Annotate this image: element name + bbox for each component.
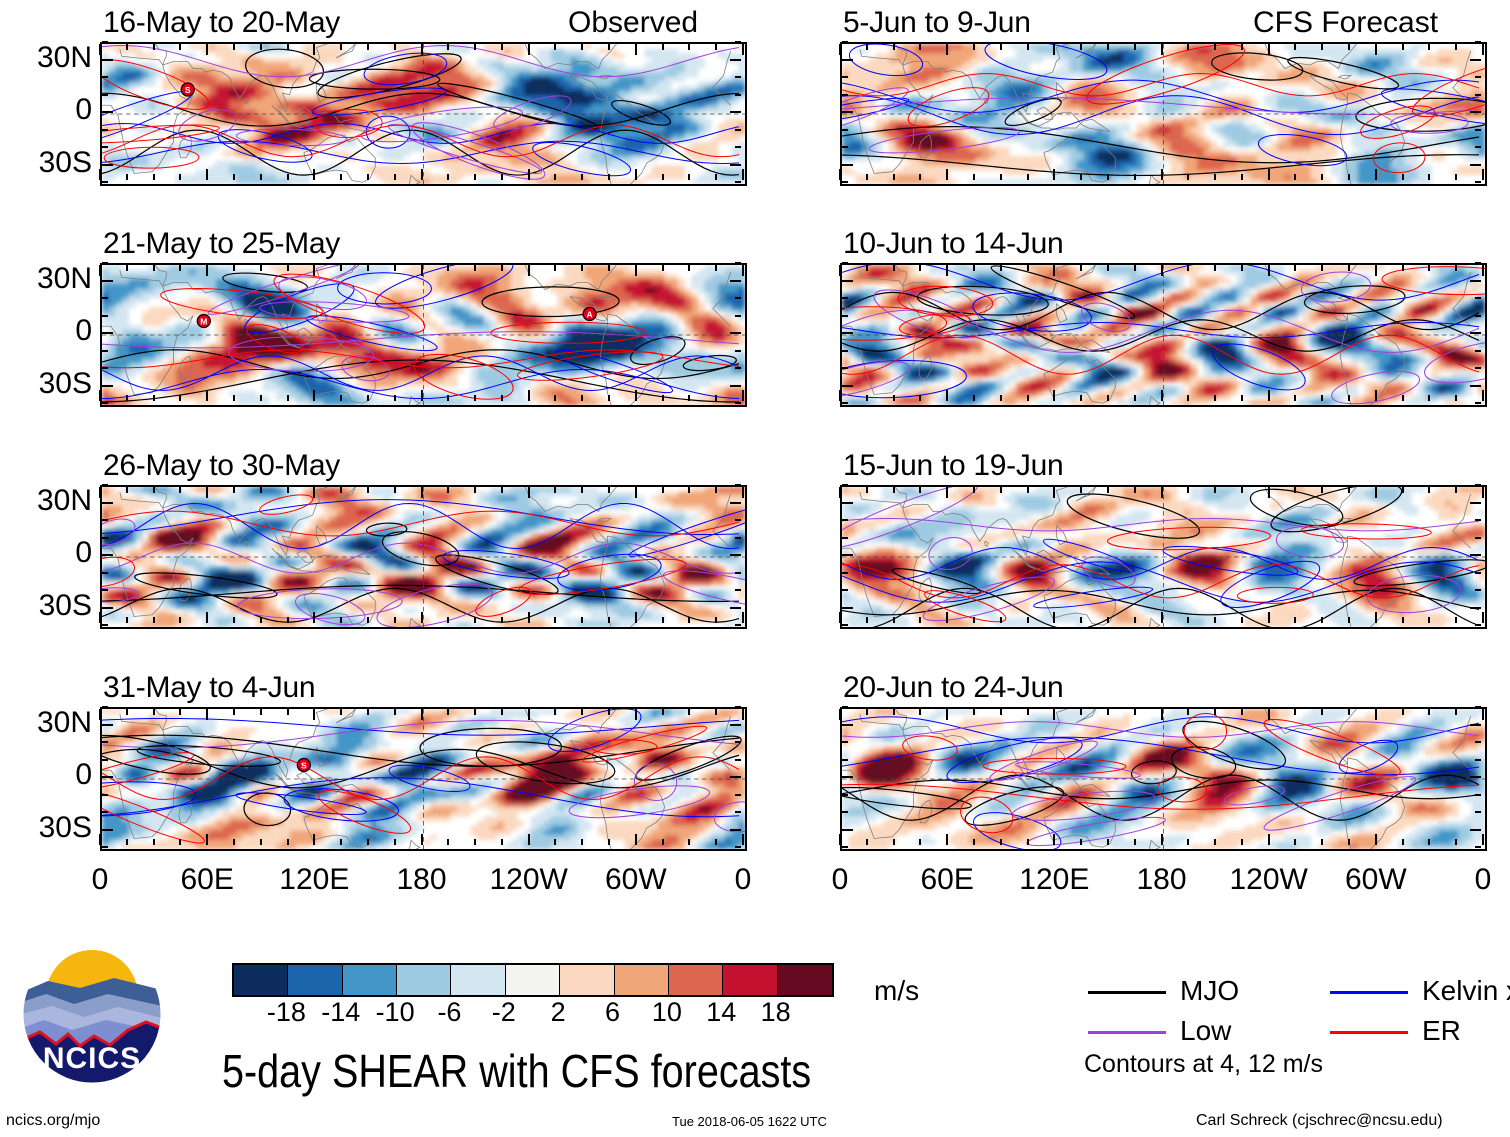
x-tick <box>1080 709 1082 715</box>
y-tick <box>735 846 741 848</box>
y-tick <box>102 484 108 486</box>
panel-title-2: 26-May to 30-May <box>103 449 340 483</box>
x-tick <box>233 839 235 845</box>
colorbar-tick-2: -10 <box>376 997 415 1028</box>
x-tick <box>1000 395 1002 401</box>
x-tick <box>688 395 690 401</box>
x-tick <box>501 709 503 715</box>
xtick-label-1-5: 60W <box>1316 863 1436 897</box>
x-tick <box>742 709 744 720</box>
x-tick <box>1241 174 1243 180</box>
x-tick <box>1268 834 1270 845</box>
y-tick <box>102 111 113 113</box>
y-tick <box>730 829 741 831</box>
x-tick <box>501 44 503 50</box>
y-tick <box>842 76 848 78</box>
colorbar-segment-0 <box>234 965 288 995</box>
ytick-label-0-0: 30N <box>4 41 92 75</box>
x-tick <box>1080 839 1082 845</box>
x-tick <box>99 169 101 180</box>
x-tick <box>474 265 476 271</box>
x-tick <box>1000 487 1002 493</box>
x-tick <box>893 617 895 623</box>
x-tick <box>394 174 396 180</box>
x-tick <box>608 839 610 845</box>
x-tick <box>581 395 583 401</box>
x-tick <box>126 617 128 623</box>
y-tick <box>102 262 108 264</box>
x-tick <box>1482 265 1484 276</box>
x-tick <box>206 487 208 498</box>
x-tick <box>1428 44 1430 50</box>
x-tick <box>153 709 155 715</box>
x-tick <box>179 709 181 715</box>
x-tick <box>866 395 868 401</box>
x-tick <box>1241 839 1243 845</box>
x-tick <box>1000 44 1002 50</box>
x-tick <box>99 390 101 401</box>
y-tick <box>1470 280 1481 282</box>
x-tick <box>528 390 530 401</box>
y-tick <box>735 262 741 264</box>
x-tick <box>1294 709 1296 715</box>
colorbar-segment-8 <box>669 965 723 995</box>
x-tick <box>919 487 921 493</box>
x-tick <box>287 487 289 493</box>
x-tick <box>1455 839 1457 845</box>
x-tick <box>866 487 868 493</box>
x-tick <box>1402 839 1404 845</box>
x-tick <box>1482 834 1484 845</box>
colorbar <box>232 963 834 997</box>
y-tick <box>1470 502 1481 504</box>
x-tick <box>1053 487 1055 498</box>
x-tick <box>1402 709 1404 715</box>
y-tick <box>102 164 113 166</box>
y-tick <box>842 164 853 166</box>
y-tick <box>1475 811 1481 813</box>
storm-marker: S <box>181 83 194 96</box>
x-tick <box>126 839 128 845</box>
x-tick <box>206 44 208 55</box>
y-tick <box>842 262 848 264</box>
y-tick <box>730 59 741 61</box>
x-tick <box>662 265 664 271</box>
x-tick <box>99 834 101 845</box>
y-tick <box>1470 385 1481 387</box>
x-tick <box>1455 617 1457 623</box>
x-tick <box>474 44 476 50</box>
x-tick <box>528 265 530 276</box>
x-tick <box>554 395 556 401</box>
x-tick <box>421 834 423 845</box>
x-tick <box>866 617 868 623</box>
main-title: 5-day SHEAR with CFS forecasts <box>222 1044 811 1098</box>
footer-center: Tue 2018-06-05 1622 UTC <box>672 1114 827 1129</box>
x-tick <box>893 839 895 845</box>
x-tick <box>206 834 208 845</box>
ncics-logo: NCICS <box>22 944 162 1084</box>
x-tick <box>1027 709 1029 715</box>
x-tick <box>260 44 262 50</box>
colorbar-segment-10 <box>778 965 832 995</box>
x-tick <box>973 709 975 715</box>
y-tick <box>842 367 848 369</box>
x-tick <box>340 395 342 401</box>
x-tick <box>1455 709 1457 715</box>
x-tick <box>1000 709 1002 715</box>
x-tick <box>340 617 342 623</box>
x-tick <box>474 487 476 493</box>
colorbar-segment-4 <box>451 965 505 995</box>
x-tick <box>1107 395 1109 401</box>
x-tick <box>287 44 289 50</box>
y-tick <box>735 624 741 626</box>
x-tick <box>839 834 841 845</box>
y-tick <box>842 759 848 761</box>
x-tick <box>581 839 583 845</box>
x-tick <box>973 395 975 401</box>
y-tick <box>735 572 741 574</box>
x-tick <box>1348 487 1350 493</box>
x-tick <box>179 44 181 50</box>
x-tick <box>946 834 948 845</box>
y-tick <box>842 537 848 539</box>
x-tick <box>126 44 128 50</box>
xtick-label-1-4: 120W <box>1209 863 1329 897</box>
x-tick <box>1161 169 1163 180</box>
y-tick <box>842 484 848 486</box>
y-tick <box>735 537 741 539</box>
x-tick <box>1402 617 1404 623</box>
x-tick <box>367 44 369 50</box>
x-tick <box>501 487 503 493</box>
x-tick <box>1241 617 1243 623</box>
x-tick <box>919 265 921 271</box>
y-tick <box>102 315 108 317</box>
y-tick <box>735 519 741 521</box>
x-tick <box>179 617 181 623</box>
x-tick <box>742 834 744 845</box>
x-tick <box>839 612 841 623</box>
x-tick <box>1134 709 1136 715</box>
x-tick <box>153 44 155 50</box>
x-tick <box>1268 265 1270 276</box>
ytick-label-1-1: 0 <box>4 314 92 348</box>
y-tick <box>842 280 853 282</box>
colorbar-units-label: m/s <box>874 975 919 1007</box>
x-tick <box>233 617 235 623</box>
x-tick <box>893 44 895 50</box>
y-tick <box>735 146 741 148</box>
x-tick <box>1187 44 1189 50</box>
x-tick <box>1482 390 1484 401</box>
x-tick <box>394 617 396 623</box>
colorbar-tick-9: 18 <box>761 997 791 1028</box>
x-tick <box>1080 617 1082 623</box>
x-tick <box>1428 709 1430 715</box>
x-tick <box>1321 487 1323 493</box>
x-tick <box>1321 265 1323 271</box>
x-tick <box>1080 487 1082 493</box>
y-tick <box>102 724 113 726</box>
x-tick <box>421 487 423 498</box>
x-tick <box>260 174 262 180</box>
y-tick <box>1470 829 1481 831</box>
x-tick <box>1107 709 1109 715</box>
x-tick <box>662 44 664 50</box>
x-tick <box>474 395 476 401</box>
x-tick <box>662 709 664 715</box>
x-tick <box>1428 265 1430 271</box>
y-tick <box>102 572 108 574</box>
x-tick <box>367 265 369 271</box>
x-tick <box>421 390 423 401</box>
x-tick <box>1134 174 1136 180</box>
x-tick <box>1268 169 1270 180</box>
x-tick <box>1107 265 1109 271</box>
x-tick <box>866 839 868 845</box>
y-tick <box>735 41 741 43</box>
map-panel-7 <box>840 707 1487 851</box>
x-tick <box>153 487 155 493</box>
x-tick <box>179 174 181 180</box>
x-tick <box>1402 265 1404 271</box>
y-tick <box>730 776 741 778</box>
x-tick <box>1027 617 1029 623</box>
x-tick <box>1161 44 1163 55</box>
y-tick <box>102 41 108 43</box>
x-tick <box>447 839 449 845</box>
x-tick <box>1214 487 1216 493</box>
x-tick <box>233 487 235 493</box>
x-tick <box>946 390 948 401</box>
x-tick <box>528 709 530 720</box>
ytick-label-1-0: 30N <box>4 262 92 296</box>
x-tick <box>1187 174 1189 180</box>
x-tick <box>421 612 423 623</box>
x-tick <box>742 44 744 55</box>
x-tick <box>742 265 744 276</box>
colorbar-tick-5: 2 <box>551 997 566 1028</box>
xtick-label-1-1: 60E <box>887 863 1007 897</box>
panel-title-5: 10-Jun to 14-Jun <box>843 227 1063 261</box>
x-tick <box>1321 709 1323 715</box>
x-tick <box>126 265 128 271</box>
x-tick <box>839 709 841 720</box>
y-tick <box>730 554 741 556</box>
x-tick <box>1053 612 1055 623</box>
x-tick <box>501 395 503 401</box>
colorbar-tick-7: 10 <box>652 997 682 1028</box>
map-field-5 <box>842 265 1485 405</box>
x-tick <box>1000 839 1002 845</box>
x-tick <box>1107 617 1109 623</box>
x-tick <box>474 709 476 715</box>
x-tick <box>179 395 181 401</box>
x-tick <box>1348 617 1350 623</box>
x-tick <box>1187 265 1189 271</box>
x-tick <box>1455 174 1457 180</box>
y-tick <box>842 829 853 831</box>
legend-label-1: Kelvin x2 <box>1422 975 1510 1007</box>
x-tick <box>715 487 717 493</box>
ytick-label-0-1: 0 <box>4 93 92 127</box>
colorbar-segment-2 <box>343 965 397 995</box>
y-tick <box>102 367 108 369</box>
x-tick <box>394 44 396 50</box>
y-tick <box>842 41 848 43</box>
y-tick <box>842 554 853 556</box>
y-tick <box>735 350 741 352</box>
y-tick <box>102 794 108 796</box>
x-tick <box>839 390 841 401</box>
panel-title-1: 21-May to 25-May <box>103 227 340 261</box>
y-tick <box>102 811 108 813</box>
y-tick <box>735 484 741 486</box>
x-tick <box>742 390 744 401</box>
x-tick <box>1375 169 1377 180</box>
x-tick <box>501 839 503 845</box>
x-tick <box>1268 44 1270 55</box>
y-tick <box>1475 146 1481 148</box>
x-tick <box>313 44 315 55</box>
x-tick <box>528 44 530 55</box>
x-tick <box>1161 834 1163 845</box>
x-tick <box>742 612 744 623</box>
storm-marker: A <box>583 308 596 321</box>
ytick-label-2-2: 30S <box>4 589 92 623</box>
x-tick <box>233 265 235 271</box>
x-tick <box>367 174 369 180</box>
x-tick <box>581 44 583 50</box>
colorbar-tick-8: 14 <box>706 997 736 1028</box>
xtick-label-1-0: 0 <box>780 863 900 897</box>
x-tick <box>153 839 155 845</box>
y-tick <box>735 741 741 743</box>
x-tick <box>1348 839 1350 845</box>
x-tick <box>688 617 690 623</box>
y-tick <box>102 554 113 556</box>
y-tick <box>102 741 108 743</box>
x-tick <box>1027 44 1029 50</box>
y-tick <box>842 589 848 591</box>
y-tick <box>730 111 741 113</box>
x-tick <box>1214 395 1216 401</box>
y-tick <box>1475 519 1481 521</box>
x-tick <box>1214 617 1216 623</box>
x-tick <box>421 265 423 276</box>
x-tick <box>1027 174 1029 180</box>
x-tick <box>233 174 235 180</box>
x-tick <box>153 174 155 180</box>
y-tick <box>735 94 741 96</box>
x-tick <box>662 395 664 401</box>
y-tick <box>735 589 741 591</box>
x-tick <box>635 44 637 55</box>
y-tick <box>102 776 113 778</box>
y-tick <box>842 706 848 708</box>
y-tick <box>735 367 741 369</box>
x-tick <box>1375 612 1377 623</box>
x-tick <box>1134 487 1136 493</box>
x-tick <box>973 617 975 623</box>
y-tick <box>1475 181 1481 183</box>
x-tick <box>554 44 556 50</box>
x-tick <box>1134 839 1136 845</box>
y-tick <box>842 502 853 504</box>
y-tick <box>730 724 741 726</box>
x-tick <box>394 839 396 845</box>
map-field-1: MA <box>102 265 745 405</box>
x-tick <box>635 709 637 720</box>
y-tick <box>842 94 848 96</box>
x-tick <box>608 617 610 623</box>
svg-text:S: S <box>185 85 191 95</box>
y-tick <box>842 181 848 183</box>
x-tick <box>1268 612 1270 623</box>
y-tick <box>102 94 108 96</box>
y-tick <box>842 624 848 626</box>
x-tick <box>1428 395 1430 401</box>
x-tick <box>1241 487 1243 493</box>
x-tick <box>608 487 610 493</box>
y-tick <box>842 794 848 796</box>
x-tick <box>206 169 208 180</box>
x-tick <box>1134 44 1136 50</box>
ytick-label-0-2: 30S <box>4 146 92 180</box>
y-tick <box>1475 94 1481 96</box>
x-tick <box>688 44 690 50</box>
legend-line-0 <box>1088 991 1166 994</box>
x-tick <box>715 265 717 271</box>
y-tick <box>102 519 108 521</box>
x-tick <box>1402 395 1404 401</box>
x-tick <box>581 487 583 493</box>
xtick-label-0-0: 0 <box>40 863 160 897</box>
x-tick <box>287 265 289 271</box>
y-tick <box>102 76 108 78</box>
x-tick <box>1294 44 1296 50</box>
x-tick <box>367 487 369 493</box>
colorbar-tick-1: -14 <box>321 997 360 1028</box>
x-tick <box>287 395 289 401</box>
x-tick <box>287 617 289 623</box>
y-tick <box>842 724 853 726</box>
y-tick <box>1475 572 1481 574</box>
y-tick <box>1475 41 1481 43</box>
x-tick <box>99 612 101 623</box>
x-tick <box>1214 174 1216 180</box>
x-tick <box>1294 174 1296 180</box>
x-tick <box>1348 174 1350 180</box>
x-tick <box>99 487 101 498</box>
x-tick <box>1027 839 1029 845</box>
x-tick <box>1375 44 1377 55</box>
y-tick <box>735 181 741 183</box>
x-tick <box>340 709 342 715</box>
x-tick <box>1321 174 1323 180</box>
y-tick <box>842 385 853 387</box>
x-tick <box>919 174 921 180</box>
x-tick <box>839 169 841 180</box>
y-tick <box>1470 607 1481 609</box>
x-tick <box>1053 834 1055 845</box>
logo-text: NCICS <box>43 1042 141 1075</box>
legend-line-1 <box>1330 991 1408 994</box>
x-tick <box>581 265 583 271</box>
x-tick <box>893 709 895 715</box>
